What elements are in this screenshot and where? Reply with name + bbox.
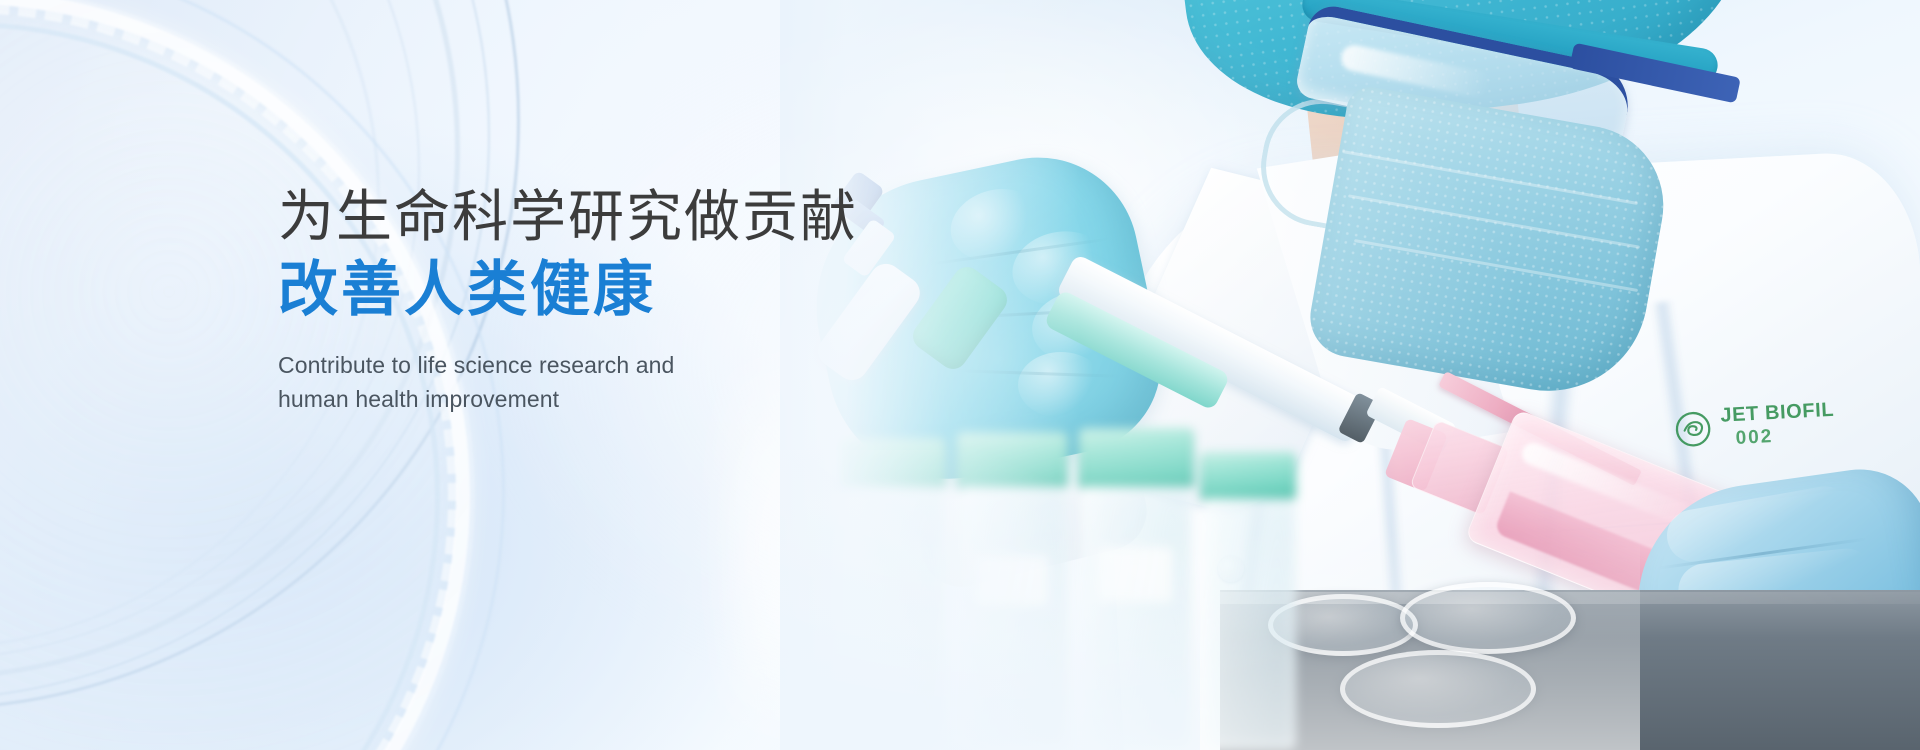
subtitle-line-2: human health improvement	[278, 382, 918, 417]
brand-logo-text: JET BIOFIL	[1720, 400, 1835, 426]
hero-banner: JET BIOFIL 002 为生命科学研究做贡献	[0, 0, 1920, 750]
jet-biofil-mark-icon	[1673, 409, 1713, 449]
banner-copy: 为生命科学研究做贡献 改善人类健康 Contribute to life sci…	[278, 186, 918, 417]
subtitle-line-1: Contribute to life science research and	[278, 348, 918, 383]
subtitle-block: Contribute to life science research and …	[278, 348, 918, 418]
brand-logo: JET BIOFIL 002	[1673, 400, 1836, 451]
photo-bottom-feather	[780, 450, 1200, 750]
headline-accent: 改善人类健康	[278, 255, 918, 326]
bottle-cap	[1200, 452, 1296, 502]
researcher-photo: JET BIOFIL 002	[780, 0, 1920, 750]
headline-primary: 为生命科学研究做贡献	[278, 186, 918, 249]
